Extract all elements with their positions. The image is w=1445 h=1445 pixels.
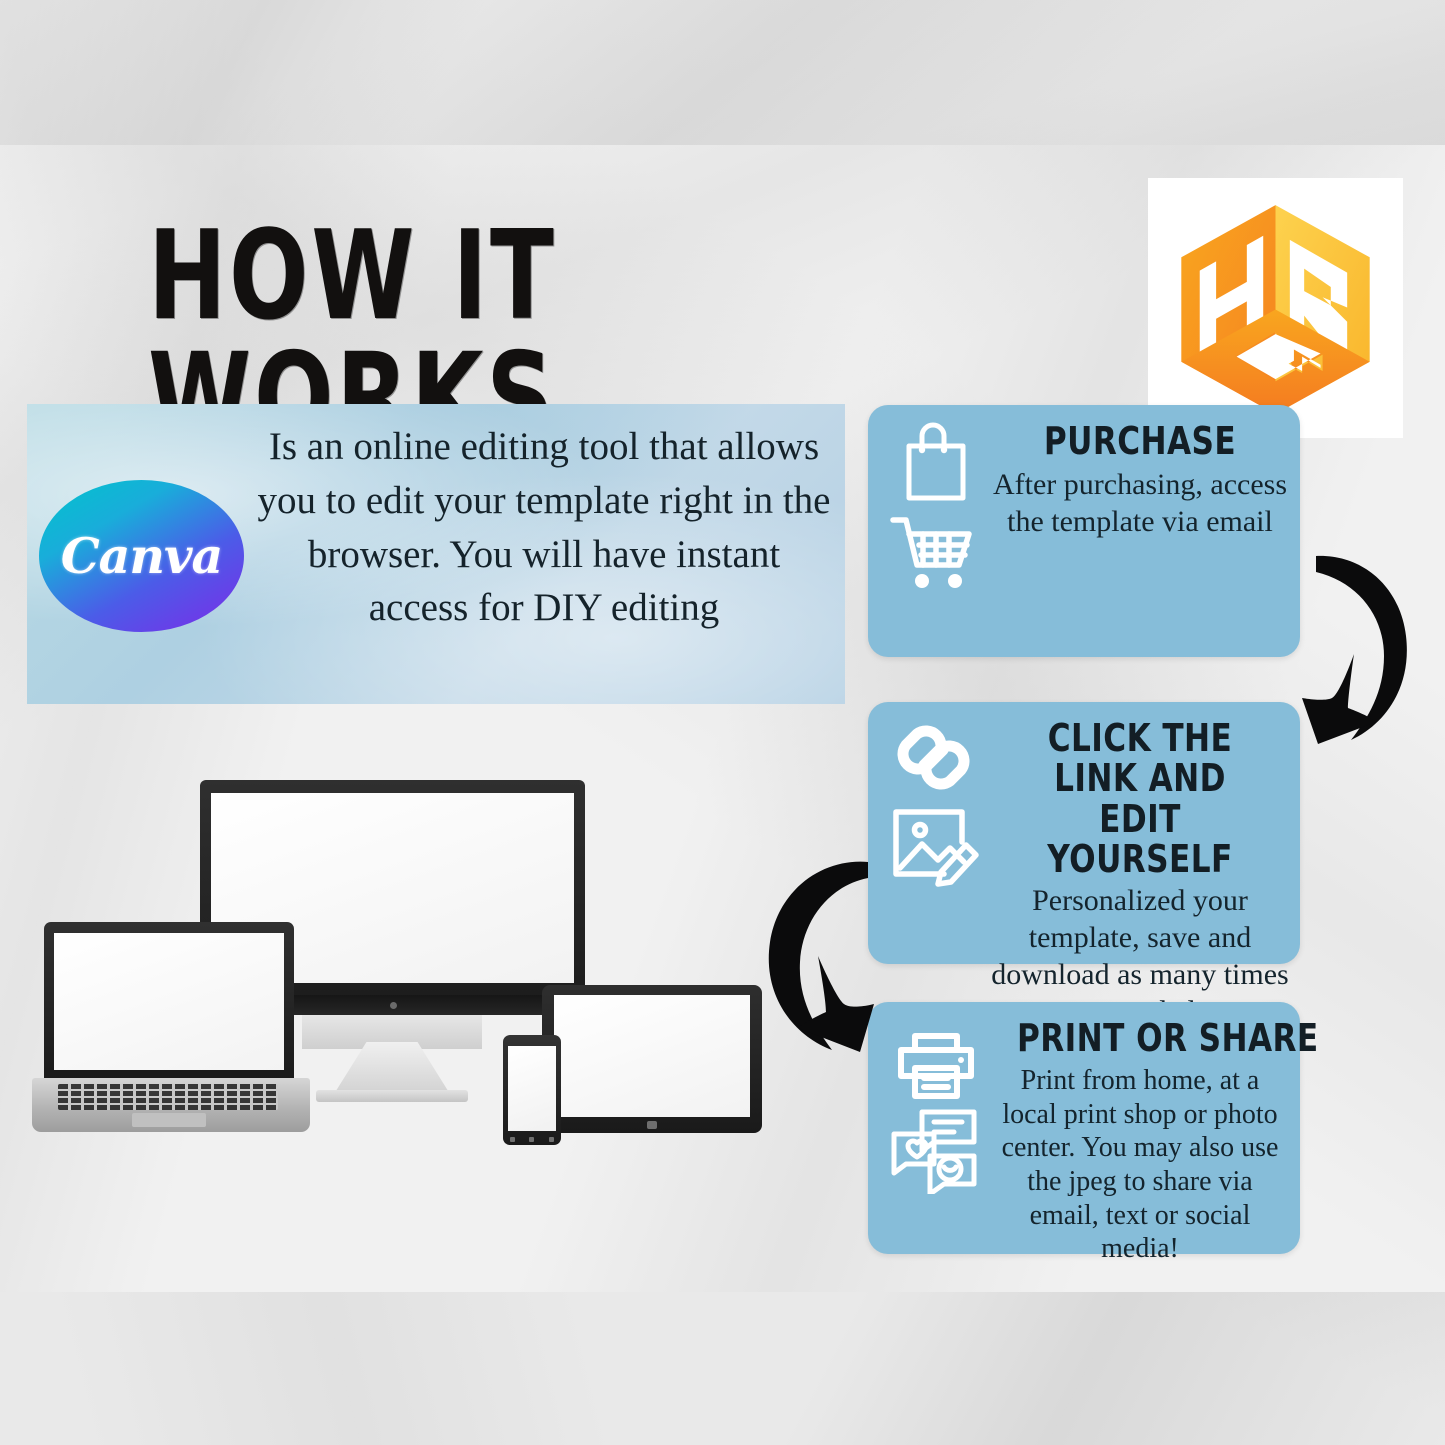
purchase-body: PURCHASE After purchasing, access the te… xyxy=(990,421,1290,541)
printer-icon xyxy=(891,1016,981,1102)
canva-description: Is an online editing tool that allows yo… xyxy=(255,420,833,635)
laptop-keyboard xyxy=(58,1084,278,1110)
tablet-icon xyxy=(542,985,762,1133)
monitor-base xyxy=(316,1090,468,1102)
step-card-edit[interactable]: CLICK THE LINK AND EDIT YOURSELF Persona… xyxy=(868,702,1300,964)
monitor-stand xyxy=(334,1042,450,1094)
laptop-icon xyxy=(44,922,294,1080)
curved-brush-arrow-down-icon xyxy=(756,846,886,1058)
device-mockups xyxy=(30,770,775,1170)
print-icons xyxy=(880,1016,992,1194)
canva-logo: Canva xyxy=(39,480,244,632)
print-heading: PRINT OR SHARE xyxy=(1017,1018,1263,1058)
laptop-trackpad xyxy=(132,1113,206,1127)
smartphone-icon xyxy=(503,1035,561,1145)
step-card-print[interactable]: PRINT OR SHARE Print from home, at a loc… xyxy=(868,1002,1300,1254)
step-card-purchase[interactable]: PURCHASE After purchasing, access the te… xyxy=(868,405,1300,657)
canva-wordmark: Canva xyxy=(61,527,223,585)
print-text: Print from home, at a local print shop o… xyxy=(990,1064,1290,1266)
shopping-cart-icon xyxy=(888,511,984,593)
edit-heading: CLICK THE LINK AND EDIT YOURSELF xyxy=(1017,718,1263,879)
print-body: PRINT OR SHARE Print from home, at a loc… xyxy=(990,1018,1290,1266)
social-share-icon xyxy=(888,1106,984,1194)
infographic-page: HOW IT WORKS xyxy=(0,0,1445,1445)
chain-link-icon xyxy=(891,716,981,798)
hrg-cube-icon xyxy=(1173,201,1378,416)
shopping-bag-icon xyxy=(893,419,979,507)
purchase-heading: PURCHASE xyxy=(1017,421,1263,461)
edit-body: CLICK THE LINK AND EDIT YOURSELF Persona… xyxy=(990,718,1290,1031)
curved-brush-arrow-down-icon xyxy=(1296,538,1426,750)
brand-logo xyxy=(1148,178,1403,438)
edit-icons xyxy=(880,716,992,888)
purchase-text: After purchasing, access the template vi… xyxy=(990,467,1290,541)
arrow-purchase-to-edit xyxy=(1296,538,1426,750)
canva-banner: Canva Is an online editing tool that all… xyxy=(27,404,845,704)
arrow-edit-to-print xyxy=(756,846,886,1058)
image-edit-icon xyxy=(888,802,984,888)
purchase-icons xyxy=(880,419,992,593)
